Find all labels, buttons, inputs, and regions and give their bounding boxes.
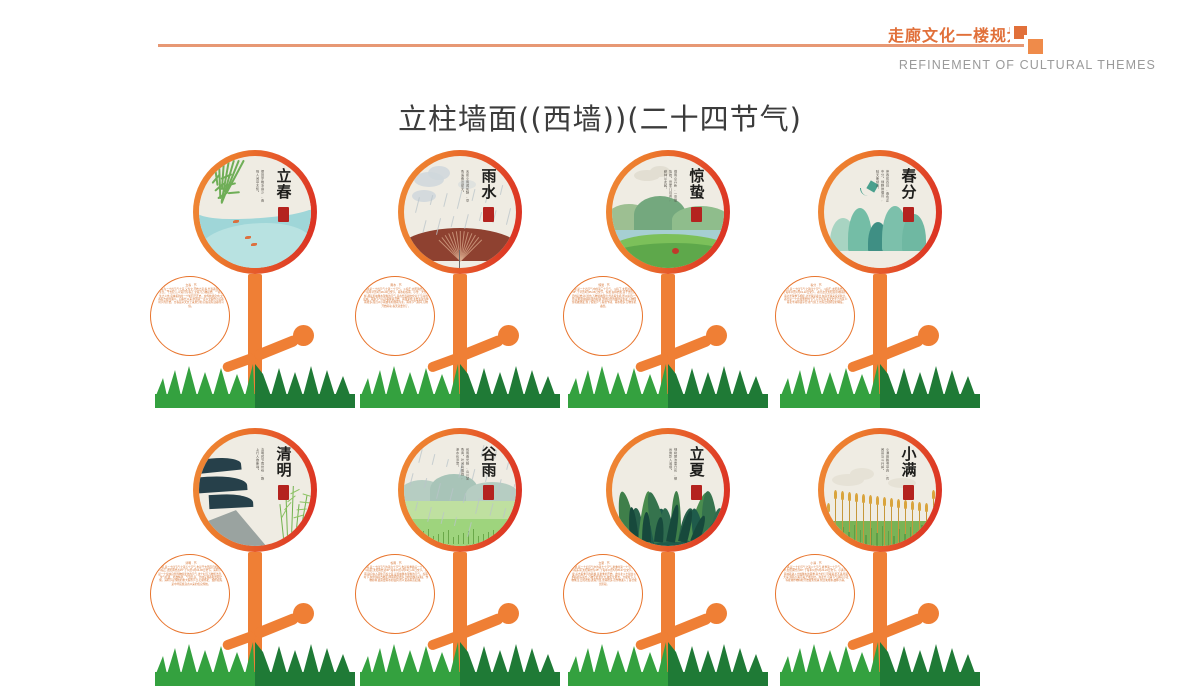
- wheat-ear: [834, 490, 838, 499]
- grass-blade: [893, 536, 894, 546]
- sign-ring-yushui: 天街小雨润如酥,草色遥看近却无。雨水: [398, 150, 522, 274]
- info-bubble-text-jingzhe: 惊蛰 · 节惊蛰,是二十四节气中的第三个节气。斗指丁,太阳达黄经345°,于公历…: [571, 283, 637, 351]
- sign-label-lichun: 立春: [266, 168, 300, 222]
- sign-ring-chunfen: 仲春初四日,春色正中分。绿野徘徊月,晴天断续云。春分: [818, 150, 942, 274]
- info-bubble-heading-qingming: 清明 · 节: [158, 561, 224, 565]
- season-name-jingzhe: 惊蛰: [689, 168, 704, 200]
- wheat-stem: [856, 500, 857, 546]
- meadow-front: [612, 243, 724, 268]
- grass-blade: [837, 534, 838, 546]
- grass-blade: [876, 533, 877, 546]
- info-bubble-text-xiaoman: 小满 · 节小满,是二十四节气之第八个节气,夏季第二个节气。斗指甲,太阳黄经为6…: [783, 561, 849, 629]
- grass-stalk: [448, 530, 449, 544]
- rain-drop: [443, 193, 447, 207]
- grass-blade: [832, 529, 833, 546]
- grass-tuft-yushui: [360, 354, 560, 408]
- wheat-ear: [897, 499, 901, 508]
- roof-eave: [199, 474, 247, 494]
- signpost-lixia[interactable]: 绿树阴浓夏日长,楼台倒影入池塘。立夏立夏 · 节立夏,是二十四节气中的第七个节气…: [563, 428, 773, 686]
- sign-disc-guyu: 谷雨春光晓,山川黛色青。叶间鸣戴胜,泽水长浮萍。谷雨: [404, 434, 516, 546]
- ladybug: [672, 248, 679, 254]
- grass-blade: [916, 532, 917, 546]
- sign-ring-lixia: 绿树阴浓夏日长,楼台倒影入池塘。立夏: [606, 428, 730, 552]
- sign-ring-xiaoman: 小满田塍寻草药,农闲莫与斗升掉。小满: [818, 428, 942, 552]
- wheat-stem: [835, 497, 836, 546]
- sign-disc-xiaoman: 小满田塍寻草药,农闲莫与斗升掉。小满: [824, 434, 936, 546]
- info-bubble-text-guyu: 谷雨 · 节谷雨,是二十四节气的第六个节气,也是春季最后一个节气;斗指辰;太阳黄…: [363, 561, 429, 629]
- sign-disc-lixia: 绿树阴浓夏日长,楼台倒影入池塘。立夏: [612, 434, 724, 546]
- grass-tuft-qingming: [155, 632, 355, 686]
- sign-poem-qingming: 清明时节雨纷纷,路上行人欲断魂。: [254, 448, 264, 482]
- wheat-ear: [827, 503, 831, 512]
- grass-stalk: [413, 535, 414, 544]
- cloud: [428, 166, 450, 180]
- grass-stalk: [438, 534, 439, 544]
- season-name-qingming: 清明: [276, 446, 291, 478]
- info-bubble-lichun[interactable]: 立春 · 节立春为二十四节气之首,又当立,开始之意;春,代表着温暖、生长。干支纪…: [150, 276, 230, 356]
- info-bubble-text-lichun: 立春 · 节立春为二十四节气之首,又当立,开始之意;春,代表着温暖、生长。干支纪…: [158, 283, 224, 351]
- grass-stalk: [493, 530, 494, 544]
- sign-poem-yushui: 天街小雨润如酥,草色遥看近却无。: [459, 170, 469, 204]
- info-bubble-text-chunfen: 春分 · 节春分,是二十四节气之第四个节气。斗指壬;太阳黄经达0°;于每年公历3…: [783, 283, 849, 351]
- sign-label-lixia: 立夏: [679, 446, 713, 500]
- fish: [245, 236, 251, 239]
- rain-drop: [406, 444, 409, 452]
- grass-stalk: [463, 533, 464, 544]
- signpost-knob-jingzhe: [706, 325, 727, 346]
- wheat-stem: [912, 508, 913, 546]
- sign-poem-lixia: 绿树阴浓夏日长,楼台倒影入池塘。: [667, 448, 677, 482]
- signpost-grid: 律回岁晚冰霜少,春到人间草木知。立春立春 · 节立春为二十四节气之首,又当立,开…: [0, 150, 1200, 670]
- grass-blade: [921, 525, 922, 546]
- sign-poem-chunfen: 仲春初四日,春色正中分。绿野徘徊月,晴天断续云。: [874, 170, 889, 204]
- header-title: 走廊文化一楼规划: [888, 22, 1024, 46]
- info-bubble-guyu[interactable]: 谷雨 · 节谷雨,是二十四节气的第六个节气,也是春季最后一个节气;斗指辰;太阳黄…: [355, 554, 435, 634]
- sign-poem-jingzhe: 微雨众卉新,一雷惊蛰始。田家几日闲,耕种从此起。: [662, 170, 677, 204]
- sign-disc-lichun: 律回岁晚冰霜少,春到人间草木知。立春: [199, 156, 311, 268]
- seal-stamp-guyu: [483, 485, 494, 500]
- logo-squares-icon: [1012, 24, 1054, 56]
- info-bubble-body-chunfen: 春分,是二十四节气之第四个节气。斗指壬;太阳黄经达0°;于每年公历3月19-22…: [783, 288, 849, 305]
- grass-tuft-guyu: [360, 632, 560, 686]
- info-bubble-text-lixia: 立夏 · 节立夏,是二十四节气中的第七个节气,夏季的第一个节气。斗指东南,太阳黄…: [571, 561, 637, 629]
- grass-stalk: [458, 535, 459, 544]
- info-bubble-xiaoman[interactable]: 小满 · 节小满,是二十四节气之第八个节气,夏季第二个节气。斗指甲,太阳黄经为6…: [775, 554, 855, 634]
- signpost-knob-lichun: [293, 325, 314, 346]
- grass-stalk: [488, 532, 489, 544]
- grass-tuft-lixia: [568, 632, 768, 686]
- info-bubble-body-jingzhe: 惊蛰,是二十四节气中的第三个节气。斗指丁,太阳达黄经345°,于公历3月05-0…: [571, 288, 636, 308]
- season-name-lixia: 立夏: [689, 446, 704, 478]
- info-bubble-heading-lichun: 立春 · 节: [158, 283, 224, 287]
- sign-ring-jingzhe: 微雨众卉新,一雷惊蛰始。田家几日闲,耕种从此起。惊蛰: [606, 150, 730, 274]
- grass-stalk: [453, 537, 454, 544]
- sign-label-chunfen: 春分: [891, 168, 925, 222]
- grass-blade: [904, 534, 905, 546]
- grass-stalk: [503, 535, 504, 544]
- sign-poem-guyu: 谷雨春光晓,山川黛色青。叶间鸣戴胜,泽水长浮萍。: [454, 448, 469, 482]
- grass-stalk: [418, 533, 419, 544]
- signpost-xiaoman[interactable]: 小满田塍寻草药,农闲莫与斗升掉。小满小满 · 节小满,是二十四节气之第八个节气,…: [775, 428, 985, 686]
- fish: [233, 220, 239, 223]
- signpost-knob-xiaoman: [918, 603, 939, 624]
- info-bubble-lixia[interactable]: 立夏 · 节立夏,是二十四节气中的第七个节气,夏季的第一个节气。斗指东南,太阳黄…: [563, 554, 643, 634]
- signpost-knob-guyu: [498, 603, 519, 624]
- wheat-ear: [925, 503, 929, 512]
- rain-drop: [409, 174, 412, 183]
- grass-blade: [865, 535, 866, 546]
- season-name-guyu: 谷雨: [481, 446, 496, 478]
- season-name-chunfen: 春分: [901, 168, 916, 200]
- info-bubble-heading-chunfen: 春分 · 节: [783, 283, 849, 287]
- info-bubble-body-yushui: 雨水是二十四节气之第二个节气。斗指壬;太阳黄经达330°;每年公历2月18-20…: [363, 288, 429, 308]
- info-bubble-yushui[interactable]: 雨水 · 节雨水是二十四节气之第二个节气。斗指壬;太阳黄经达330°;每年公历2…: [355, 276, 435, 356]
- wheat-stem: [891, 505, 892, 546]
- grass-tuft-chunfen: [780, 354, 980, 408]
- cloud: [850, 468, 874, 480]
- grass-stalk: [498, 537, 499, 544]
- wall: [199, 510, 266, 546]
- grass-tuft-lichun: [155, 354, 355, 408]
- kite-tail: [860, 188, 871, 196]
- info-bubble-body-qingming: 清明,是二十四节气之第五个节气,也是干支历辰月的起始;斗指乙,太阳黄经达15°,…: [158, 566, 224, 586]
- grass-tuft-jingzhe: [568, 354, 768, 408]
- wheat-ear: [876, 496, 880, 505]
- wheat-stem: [919, 509, 920, 546]
- season-name-lichun: 立春: [276, 168, 291, 200]
- season-name-yushui: 雨水: [481, 168, 496, 200]
- info-bubble-heading-yushui: 雨水 · 节: [363, 283, 429, 287]
- info-bubble-heading-guyu: 谷雨 · 节: [363, 561, 429, 565]
- wheat-ear: [932, 490, 936, 499]
- ground: [824, 251, 936, 268]
- seal-stamp-lichun: [278, 207, 289, 222]
- signpost-knob-lixia: [706, 603, 727, 624]
- sign-label-qingming: 清明: [266, 446, 300, 500]
- seal-stamp-chunfen: [903, 207, 914, 222]
- wheat-ear: [918, 502, 922, 511]
- grass-blade: [882, 526, 883, 546]
- grass-blade: [843, 527, 844, 546]
- seal-stamp-yushui: [483, 207, 494, 222]
- info-bubble-text-qingming: 清明 · 节清明,是二十四节气之第五个节气,也是干支历辰月的起始;斗指乙,太阳黄…: [158, 561, 224, 629]
- grass-stalk: [473, 529, 474, 544]
- grass-tuft-xiaoman: [780, 632, 980, 686]
- info-bubble-body-lixia: 立夏,是二十四节气中的第七个节气,夏季的第一个节气。斗指东南,太阳黄经为45°,…: [571, 566, 636, 586]
- grass-stalk: [513, 531, 514, 544]
- rain-drop: [506, 208, 511, 225]
- grass-blade: [927, 530, 928, 546]
- fish: [251, 243, 257, 246]
- rain-drop: [446, 459, 449, 467]
- sign-disc-chunfen: 仲春初四日,春色正中分。绿野徘徊月,晴天断续云。春分: [824, 156, 936, 268]
- grass-stalk: [443, 532, 444, 544]
- signpost-knob-yushui: [498, 325, 519, 346]
- signpost-jingzhe[interactable]: 微雨众卉新,一雷惊蛰始。田家几日闲,耕种从此起。惊蛰惊蛰 · 节惊蛰,是二十四节…: [563, 150, 773, 408]
- roof-eave: [199, 456, 242, 475]
- seal-stamp-qingming: [278, 485, 289, 500]
- grass-blade: [899, 529, 900, 546]
- seal-stamp-lixia: [691, 485, 702, 500]
- info-bubble-text-yushui: 雨水 · 节雨水是二十四节气之第二个节气。斗指壬;太阳黄经达330°;每年公历2…: [363, 283, 429, 351]
- info-bubble-jingzhe[interactable]: 惊蛰 · 节惊蛰,是二十四节气中的第三个节气。斗指丁,太阳达黄经345°,于公历…: [563, 276, 643, 356]
- signpost-guyu[interactable]: 谷雨春光晓,山川黛色青。叶间鸣戴胜,泽水长浮萍。谷雨谷雨 · 节谷雨,是二十四节…: [355, 428, 565, 686]
- wheat-ear: [855, 493, 859, 502]
- wheat-ear: [883, 497, 887, 506]
- grass-blade: [932, 535, 933, 546]
- sign-label-jingzhe: 惊蛰: [679, 168, 713, 222]
- sign-poem-lichun: 律回岁晚冰霜少,春到人间草木知。: [254, 170, 264, 204]
- post-marker: [459, 250, 460, 268]
- grass-stalk: [423, 531, 424, 544]
- page-title: 立柱墙面((西墙))(二十四节气): [0, 96, 1200, 138]
- info-bubble-heading-lixia: 立夏 · 节: [571, 561, 637, 565]
- grass-blade: [826, 536, 827, 546]
- info-bubble-body-lichun: 立春为二十四节气之首,又当立,开始之意;春,代表着温暖、生长。干支纪元,以寅月为…: [158, 288, 224, 308]
- willow-leaf: [228, 191, 240, 194]
- sign-ring-qingming: 清明时节雨纷纷,路上行人欲断魂。清明: [193, 428, 317, 552]
- info-bubble-heading-xiaoman: 小满 · 节: [783, 561, 849, 565]
- sign-ring-lichun: 律回岁晚冰霜少,春到人间草木知。立春: [193, 150, 317, 274]
- page-header: 走廊文化一楼规划 REFINEMENT OF CULTURAL THEMES: [0, 0, 1200, 86]
- info-bubble-heading-jingzhe: 惊蛰 · 节: [571, 283, 637, 287]
- info-bubble-qingming[interactable]: 清明 · 节清明,是二十四节气之第五个节气,也是干支历辰月的起始;斗指乙,太阳黄…: [150, 554, 230, 634]
- season-name-xiaoman: 小满: [901, 446, 916, 478]
- grass-stalk: [508, 533, 509, 544]
- info-bubble-body-xiaoman: 小满,是二十四节气之第八个节气,夏季第二个节气。斗指甲,太阳黄经为60°,于每年…: [783, 566, 848, 583]
- info-bubble-chunfen[interactable]: 春分 · 节春分,是二十四节气之第四个节气。斗指壬;太阳黄经达0°;于每年公历3…: [775, 276, 855, 356]
- signpost-qingming[interactable]: 清明时节雨纷纷,路上行人欲断魂。清明清明 · 节清明,是二十四节气之第五个节气,…: [150, 428, 360, 686]
- signpost-knob-qingming: [293, 603, 314, 624]
- wheat-stem: [884, 504, 885, 546]
- sign-disc-yushui: 天街小雨润如酥,草色遥看近却无。雨水: [404, 156, 516, 268]
- wheat-stem: [828, 510, 829, 546]
- rain-drop: [432, 454, 436, 465]
- grass-blade: [888, 531, 889, 546]
- grass-blade: [854, 525, 855, 546]
- logo-square-bottom: [1026, 37, 1045, 56]
- grass-stalk: [428, 529, 429, 544]
- wheat-stem: [863, 501, 864, 546]
- roof-eave: [209, 493, 254, 509]
- sign-disc-qingming: 清明时节雨纷纷,路上行人欲断魂。清明: [199, 434, 311, 546]
- grass-blade: [848, 532, 849, 546]
- wheat-ear: [862, 494, 866, 503]
- wheat-ear: [848, 492, 852, 501]
- signpost-chunfen[interactable]: 仲春初四日,春色正中分。绿野徘徊月,晴天断续云。春分春分 · 节春分,是二十四节…: [775, 150, 985, 408]
- wheat-ear: [904, 500, 908, 509]
- grass-blade: [871, 528, 872, 546]
- grass-blade: [910, 527, 911, 546]
- info-bubble-body-guyu: 谷雨,是二十四节气的第六个节气,也是春季最后一个节气;斗指辰;太阳黄经达30°;…: [364, 566, 428, 583]
- sign-poem-xiaoman: 小满田塍寻草药,农闲莫与斗升掉。: [879, 448, 889, 482]
- grass-stalk: [478, 536, 479, 544]
- rain-drop: [451, 216, 455, 227]
- rain-drop: [464, 214, 469, 229]
- wheat-ear: [911, 501, 915, 510]
- sign-label-guyu: 谷雨: [471, 446, 505, 500]
- grass-blade: [860, 530, 861, 546]
- sign-label-xiaoman: 小满: [891, 446, 925, 500]
- rain-drop: [419, 449, 423, 463]
- rain-drop: [506, 455, 511, 470]
- signpost-yushui[interactable]: 天街小雨润如酥,草色遥看近却无。雨水雨水 · 节雨水是二十四节气之第二个节气。斗…: [355, 150, 565, 408]
- rain-drop: [513, 183, 516, 197]
- seal-stamp-xiaoman: [903, 485, 914, 500]
- sign-ring-guyu: 谷雨春光晓,山川黛色青。叶间鸣戴胜,泽水长浮萍。谷雨: [398, 428, 522, 552]
- wheat-ear: [841, 491, 845, 500]
- header-subtitle: REFINEMENT OF CULTURAL THEMES: [899, 58, 1156, 72]
- grass-stalk: [408, 537, 409, 544]
- sign-label-yushui: 雨水: [471, 168, 505, 222]
- grass-stalk: [483, 534, 484, 544]
- signpost-lichun[interactable]: 律回岁晚冰霜少,春到人间草木知。立春立春 · 节立春为二十四节气之首,又当立,开…: [150, 150, 360, 408]
- signpost-knob-chunfen: [918, 325, 939, 346]
- wheat-ear: [869, 495, 873, 504]
- sign-disc-jingzhe: 微雨众卉新,一雷惊蛰始。田家几日闲,耕种从此起。惊蛰: [612, 156, 724, 268]
- seal-stamp-jingzhe: [691, 207, 702, 222]
- grass-stalk: [433, 536, 434, 544]
